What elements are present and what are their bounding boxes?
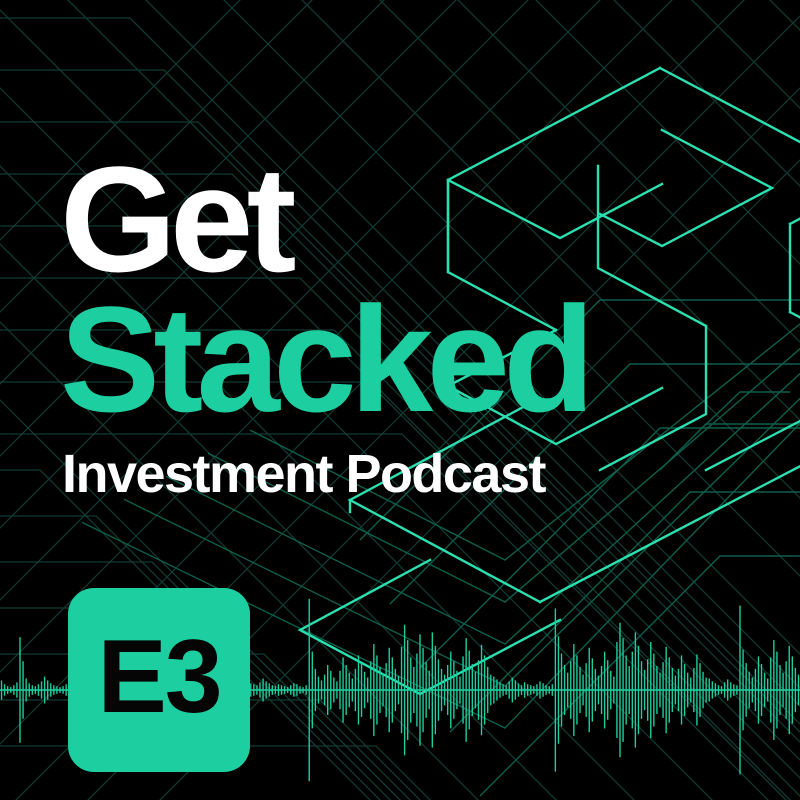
podcast-cover-art: Get Stacked Investment Podcast E3 — [0, 0, 800, 800]
episode-badge-label: E3 — [97, 625, 220, 729]
title-line-get: Get — [60, 150, 780, 290]
cover-subtitle: Investment Podcast — [62, 447, 780, 501]
episode-badge: E3 — [68, 588, 250, 772]
title-line-stacked: Stacked — [60, 290, 780, 430]
cover-title-block: Get Stacked Investment Podcast — [60, 150, 780, 501]
